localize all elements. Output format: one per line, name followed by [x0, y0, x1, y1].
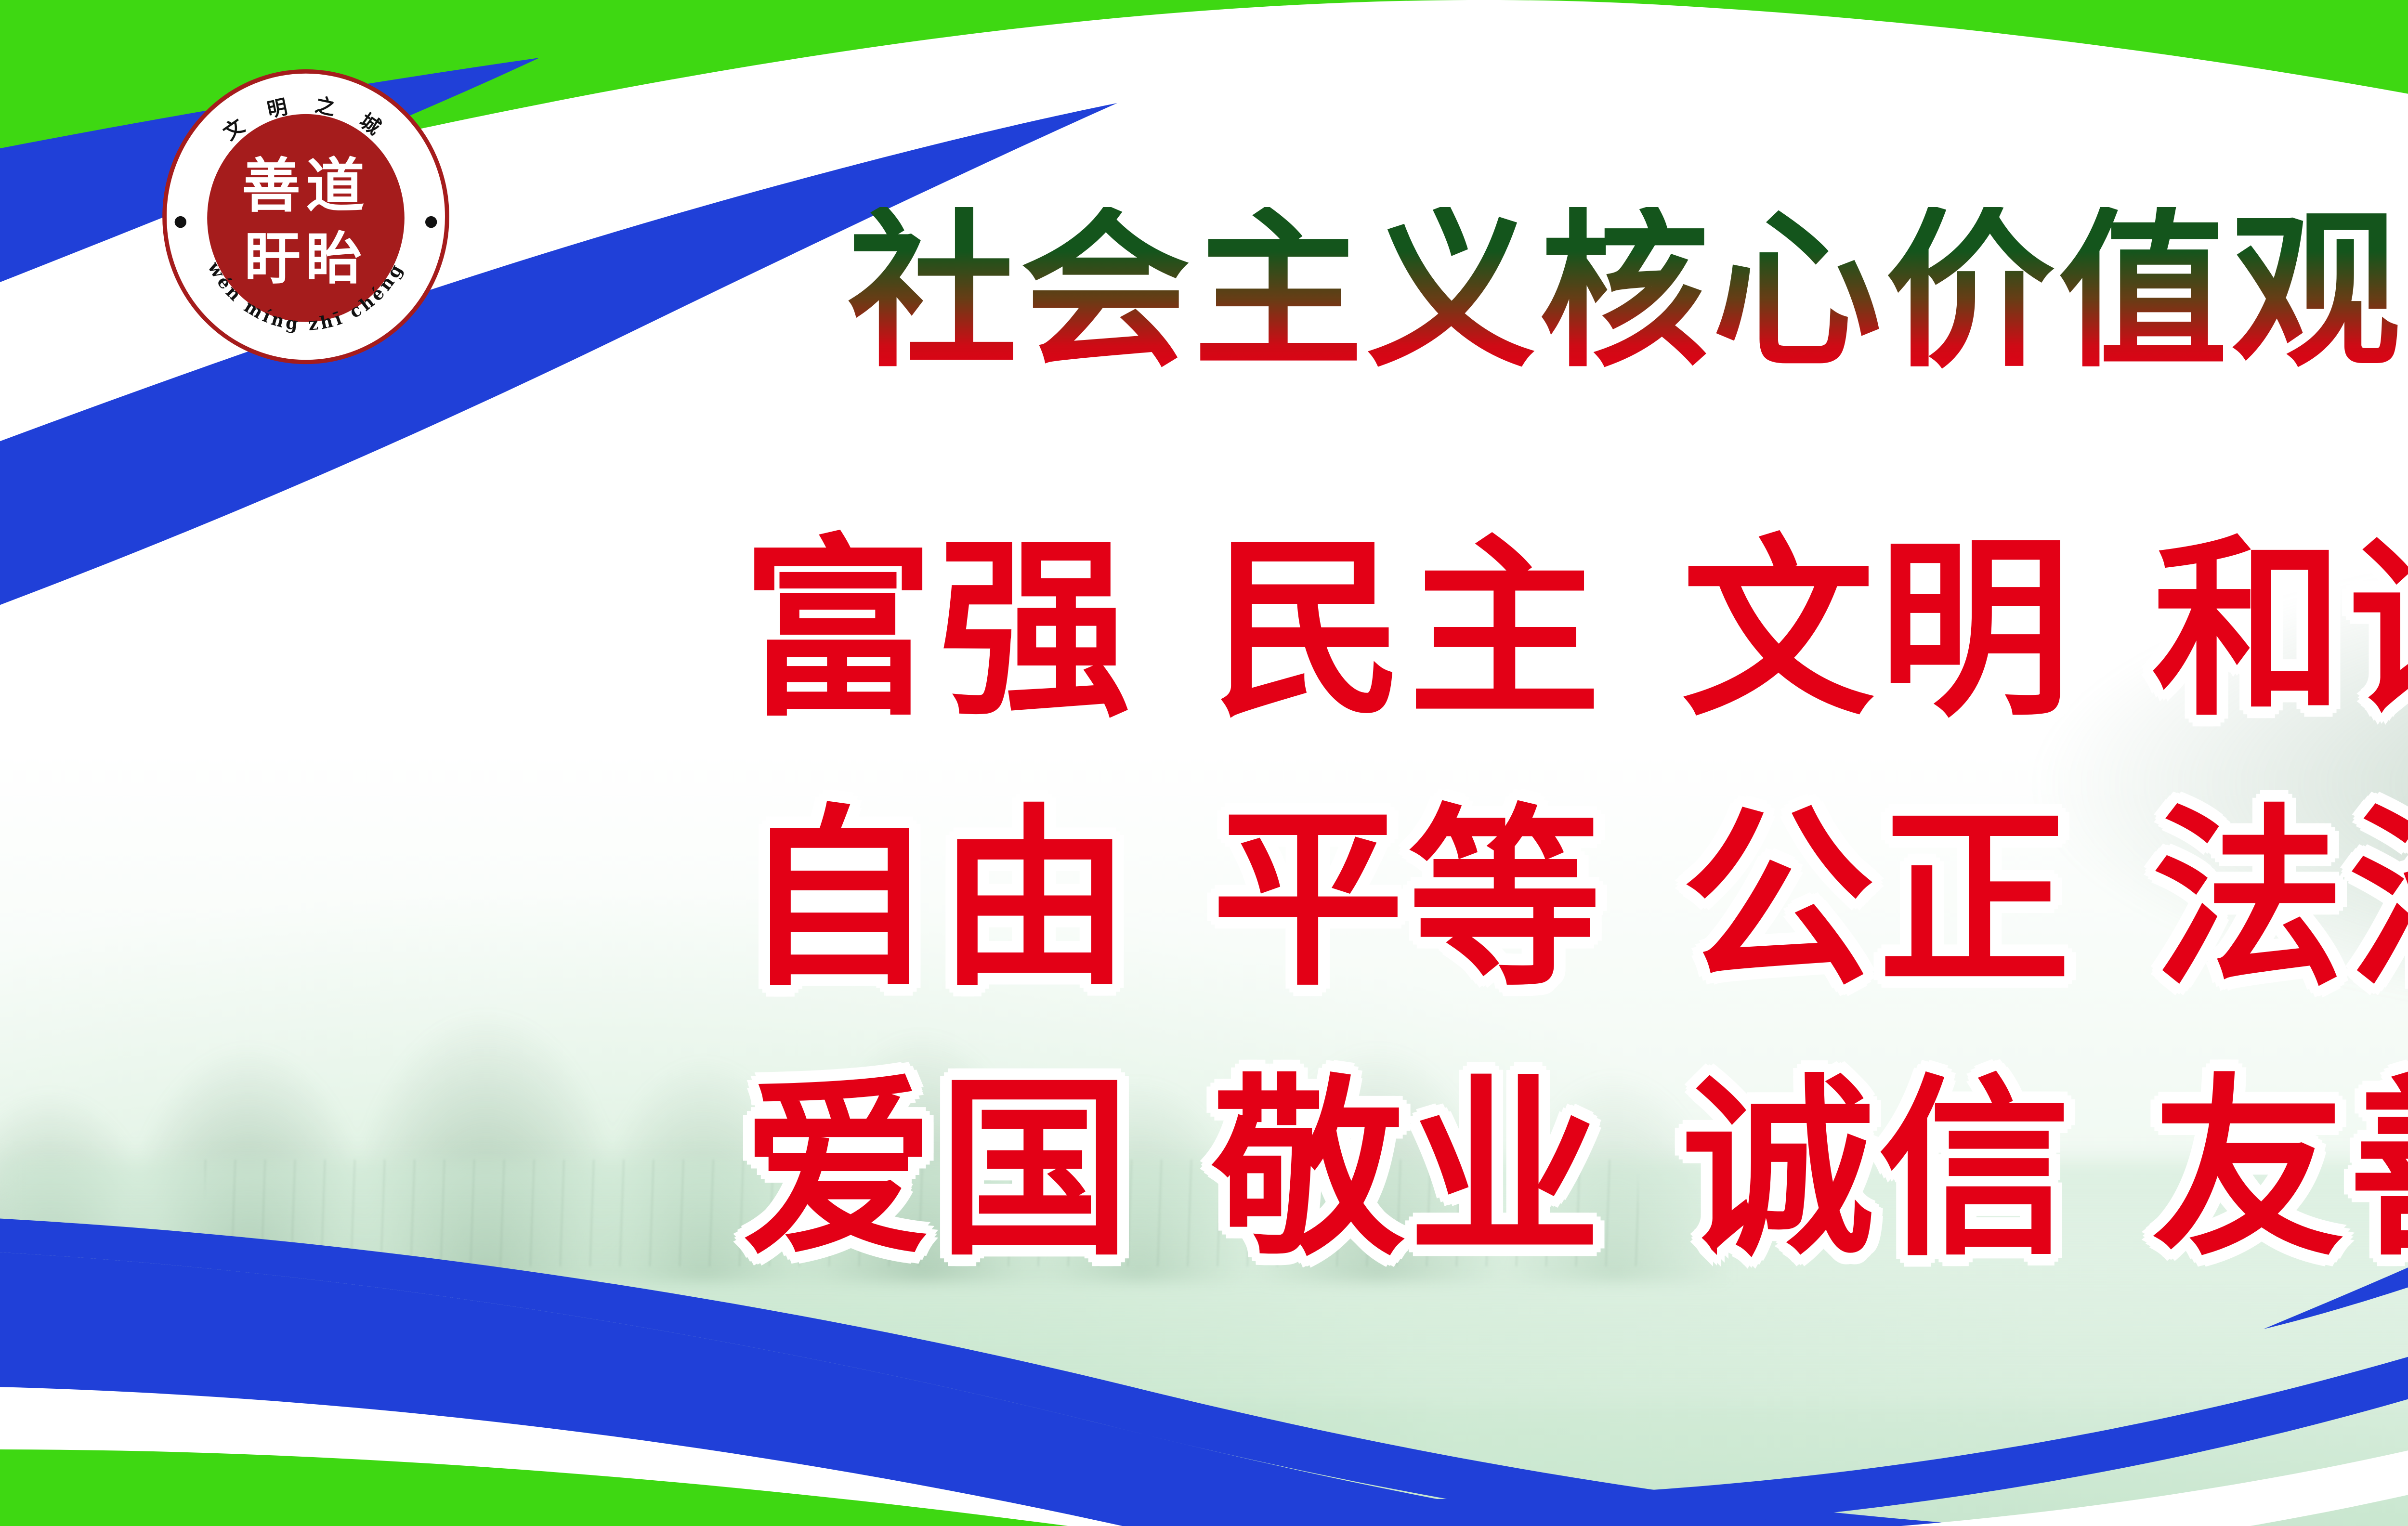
value-word: 平等: [1212, 788, 1605, 1012]
value-word: 诚信: [1682, 1058, 2075, 1282]
logo-center-line1: 善道: [242, 152, 370, 220]
city-emblem-logo: 文 明 之 城 wén míng zhī chéng 善道 盱眙: [159, 67, 453, 366]
value-word: 公正: [1682, 788, 2075, 1012]
value-word: 敬业: [1212, 1058, 1605, 1282]
value-line-3: 爱国敬业诚信友善: [742, 1035, 2408, 1305]
value-word: 民主: [1212, 519, 1605, 743]
value-word: 和谐: [2152, 519, 2408, 743]
logo-dot-left: [175, 216, 186, 228]
value-line-1: 富强民主文明和谐: [742, 496, 2408, 766]
core-values-list: 富强民主文明和谐 自由平等公正法治 爱国敬业诚信友善: [742, 496, 2408, 1305]
value-word: 自由: [742, 788, 1135, 1012]
value-line-2: 自由平等公正法治: [742, 766, 2408, 1035]
value-word: 富强: [742, 519, 1135, 743]
value-word: 友善: [2152, 1058, 2408, 1282]
logo-dot-right: [425, 216, 437, 228]
propaganda-banner: 文 明 之 城 wén míng zhī chéng 善道 盱眙 社会主义核心价…: [0, 0, 2408, 1526]
value-word: 法治: [2152, 788, 2408, 1012]
page-title: 社会主义核心价值观: [848, 207, 2404, 377]
value-word: 文明: [1682, 519, 2075, 743]
logo-center-line2: 盱眙: [245, 226, 367, 291]
value-word: 爱国: [742, 1058, 1135, 1282]
